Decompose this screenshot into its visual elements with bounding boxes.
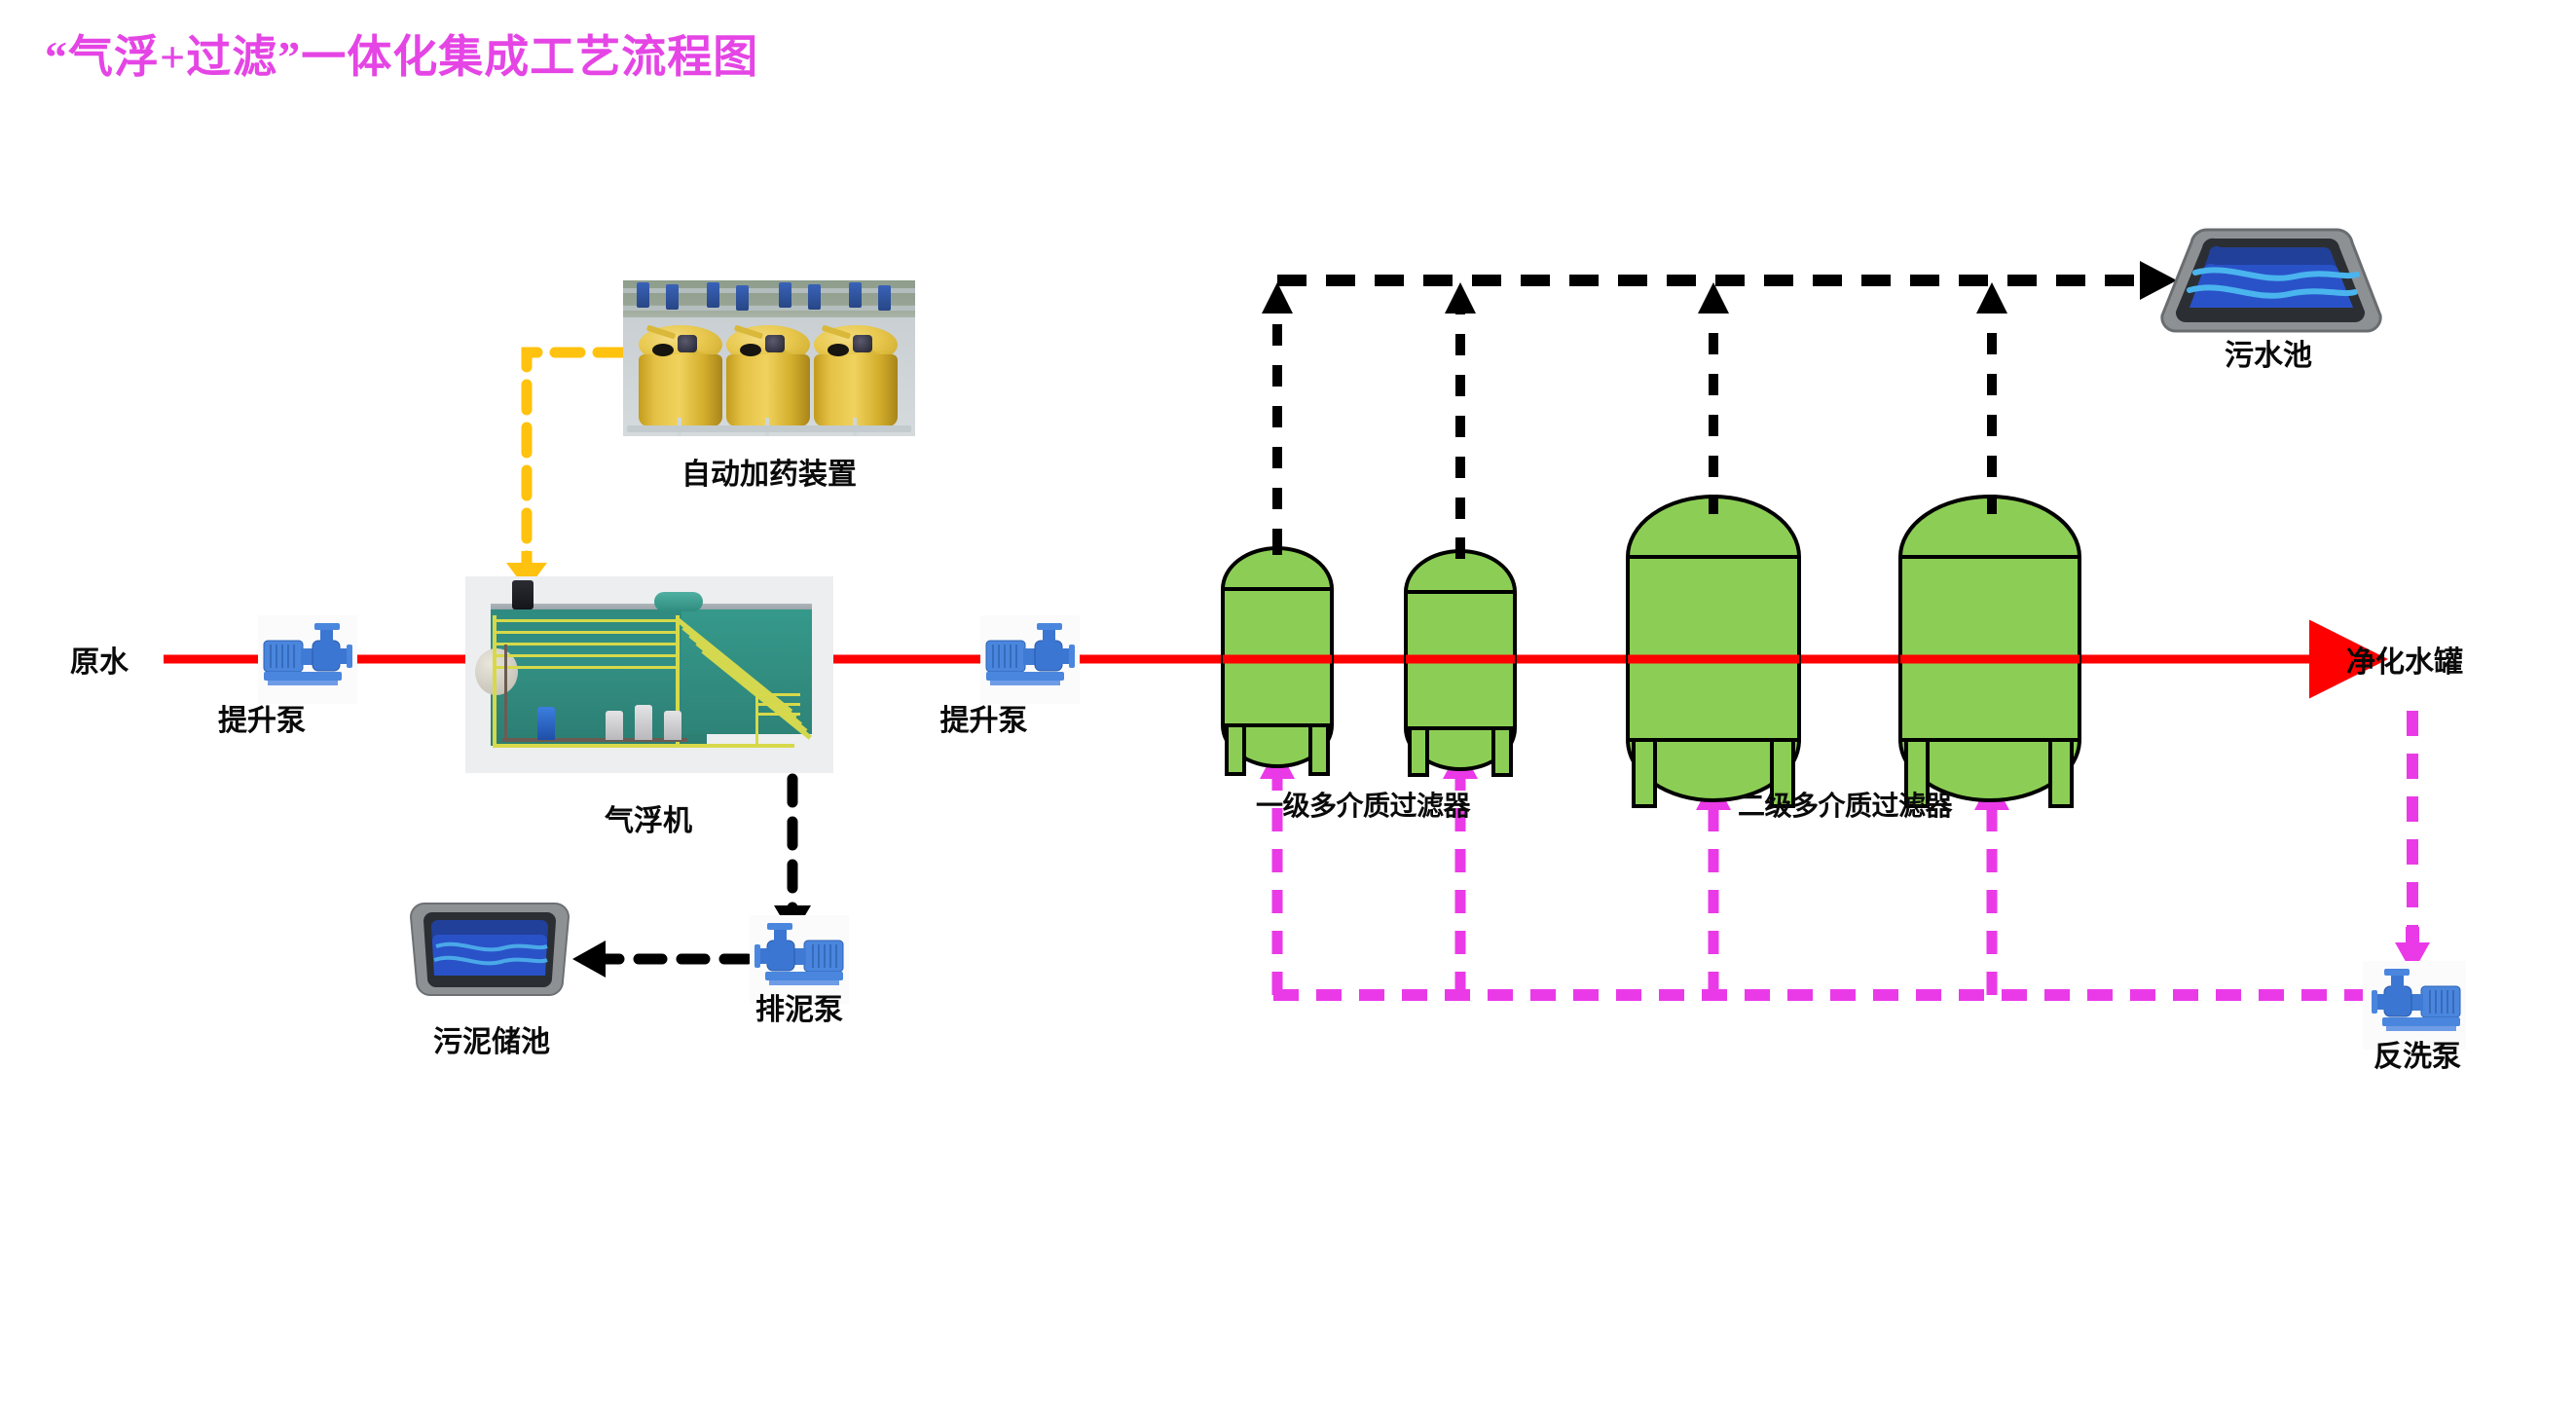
daf-machine-label: 气浮机 bbox=[541, 796, 755, 839]
process-flow-diagram: “气浮+过滤”一体化集成工艺流程图 bbox=[0, 0, 2576, 1402]
dosing-tank-2 bbox=[726, 325, 810, 426]
dosing-unit-photo[interactable] bbox=[623, 280, 915, 436]
filter-vessel-2a[interactable] bbox=[1628, 495, 1799, 806]
dosing-tank-1 bbox=[639, 325, 722, 426]
filter-vessel-1a[interactable] bbox=[1223, 534, 1332, 774]
backwash-pump-label: 反洗泵 bbox=[2344, 1032, 2490, 1075]
filter-vessel-2b[interactable] bbox=[1900, 495, 2079, 806]
filter-stage-2-label: 二级多介质过滤器 bbox=[1738, 785, 1952, 824]
backwash-waste-line bbox=[1262, 261, 2177, 560]
backwash-supply-line bbox=[1260, 711, 2430, 995]
lift-pump-1[interactable] bbox=[256, 613, 359, 706]
waste-pool-label: 污水池 bbox=[2142, 331, 2395, 374]
daf-machine-photo[interactable] bbox=[465, 576, 833, 773]
lift-pump-2[interactable] bbox=[978, 613, 1082, 706]
sludge-pool[interactable] bbox=[399, 896, 580, 1008]
chemical-dosing-line bbox=[506, 352, 623, 590]
filter-stage-1-label: 一级多介质过滤器 bbox=[1256, 785, 1470, 824]
piping-layer bbox=[0, 0, 2576, 1402]
raw-water-label: 原水 bbox=[70, 638, 129, 681]
dosing-tank-3 bbox=[814, 325, 898, 426]
dosing-unit-label: 自动加药装置 bbox=[623, 450, 915, 493]
sludge-to-pool-line bbox=[572, 941, 748, 978]
product-tank-label: 净化水罐 bbox=[2346, 638, 2463, 681]
sludge-pool-label: 污泥储池 bbox=[389, 1017, 594, 1060]
page-title: “气浮+过滤”一体化集成工艺流程图 bbox=[45, 21, 758, 86]
sludge-pump-label: 排泥泵 bbox=[726, 985, 872, 1028]
lift-pump-2-label: 提升泵 bbox=[913, 696, 1054, 739]
lift-pump-1-label: 提升泵 bbox=[194, 696, 330, 739]
filter-vessel-1b[interactable] bbox=[1406, 537, 1515, 775]
